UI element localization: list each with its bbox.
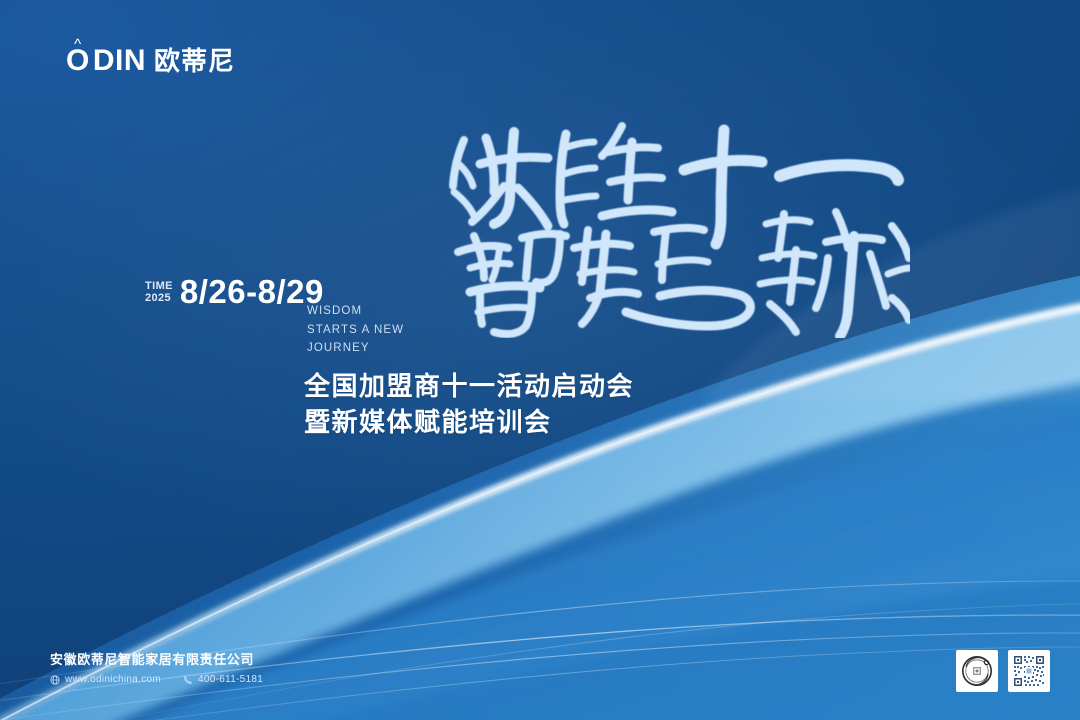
phone-contact[interactable]: 400-611-5181 <box>183 674 263 685</box>
phone-number: 400-611-5181 <box>198 674 263 685</box>
website-contact[interactable]: www.odinichina.com <box>50 674 161 685</box>
website-url: www.odinichina.com <box>65 674 161 685</box>
contact-row: www.odinichina.com 400-611-5181 <box>50 674 263 685</box>
brand-seal-code[interactable] <box>956 650 998 692</box>
time-label-stack: TIME 2025 <box>145 280 173 304</box>
tagline-line-1: WISDOM <box>307 302 404 321</box>
date-range: 8/26-8/29 <box>180 275 324 308</box>
logo-cjk-text: 欧蒂尼 <box>154 48 235 74</box>
event-date-block: TIME 2025 8/26-8/29 <box>145 275 324 308</box>
promotional-poster: ^ O DIN 欧蒂尼 <box>0 0 1080 720</box>
code-tiles <box>956 650 1050 692</box>
logo-circumflex-icon: ^ <box>74 37 82 52</box>
tagline-line-3: JOURNEY <box>307 339 404 358</box>
subtitle-line-1: 全国加盟商十一活动启动会 <box>304 368 634 404</box>
logo-o-letter: ^ O <box>66 46 90 76</box>
english-tagline: WISDOM STARTS A NEW JOURNEY <box>307 302 404 358</box>
brand-logo: ^ O DIN 欧蒂尼 <box>66 46 235 76</box>
wechat-qr-code[interactable] <box>1008 650 1050 692</box>
footer-block: 安徽欧蒂尼智能家居有限责任公司 www.odinichina.com <box>50 651 263 685</box>
time-label: TIME <box>145 280 173 292</box>
headline-calligraphy <box>440 108 910 338</box>
year-label: 2025 <box>145 292 173 304</box>
logo-latin-text: DIN <box>93 46 146 76</box>
phone-icon <box>183 675 193 685</box>
company-name: 安徽欧蒂尼智能家居有限责任公司 <box>50 651 263 669</box>
tagline-line-2: STARTS A NEW <box>307 321 404 340</box>
globe-icon <box>50 675 60 685</box>
subtitle-line-2: 暨新媒体赋能培训会 <box>304 404 634 440</box>
event-subtitle: 全国加盟商十一活动启动会 暨新媒体赋能培训会 <box>304 368 634 440</box>
